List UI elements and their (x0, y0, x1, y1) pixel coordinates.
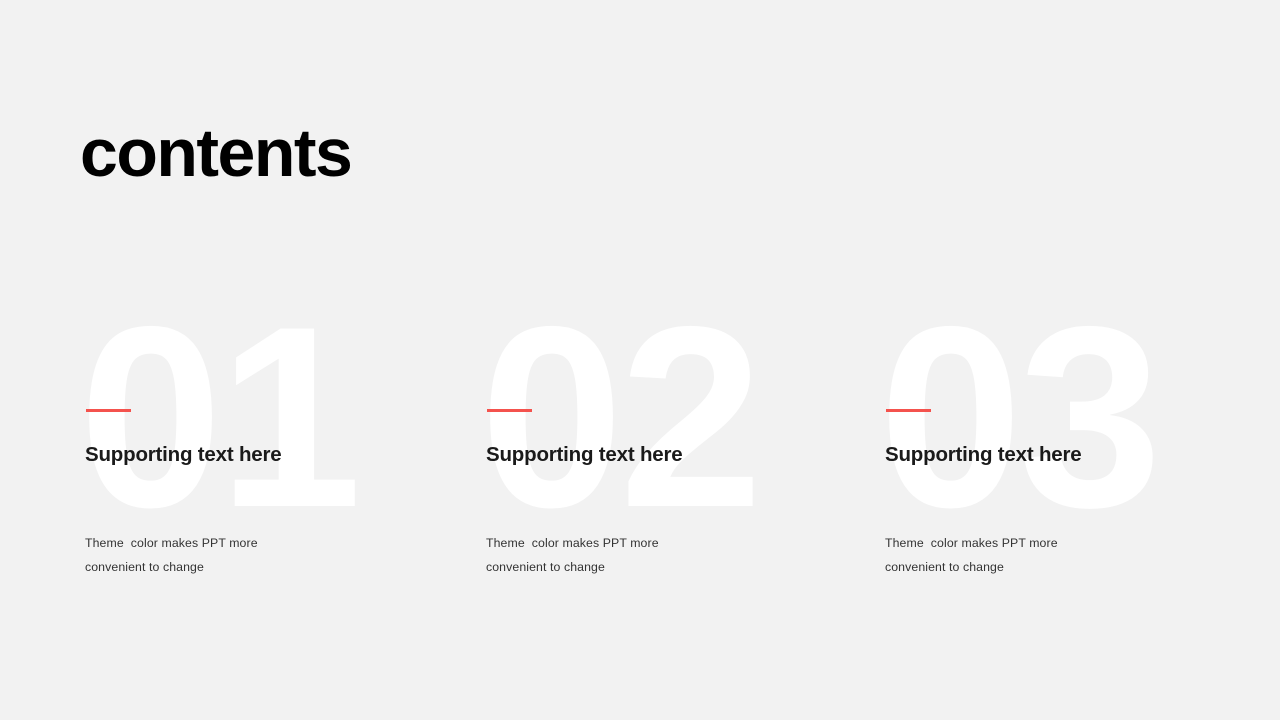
item-description: Theme color makes PPT more convenient to… (885, 531, 1100, 579)
contents-item[interactable]: 03 Supporting text here Theme color make… (885, 360, 1185, 590)
item-description: Theme color makes PPT more convenient to… (486, 531, 701, 579)
slide-canvas: contents 01 Supporting text here Theme c… (0, 0, 1280, 720)
item-heading: Supporting text here (85, 440, 315, 469)
item-heading: Supporting text here (486, 440, 716, 469)
item-description: Theme color makes PPT more convenient to… (85, 531, 300, 579)
contents-item[interactable]: 01 Supporting text here Theme color make… (85, 360, 385, 590)
item-number-watermark: 02 (480, 288, 759, 546)
item-heading: Supporting text here (885, 440, 1115, 469)
contents-item-list: 01 Supporting text here Theme color make… (0, 0, 1280, 720)
accent-rule (487, 409, 532, 412)
item-number-watermark: 03 (879, 288, 1158, 546)
item-number-watermark: 01 (79, 288, 358, 546)
accent-rule (886, 409, 931, 412)
accent-rule (86, 409, 131, 412)
contents-item[interactable]: 02 Supporting text here Theme color make… (486, 360, 786, 590)
